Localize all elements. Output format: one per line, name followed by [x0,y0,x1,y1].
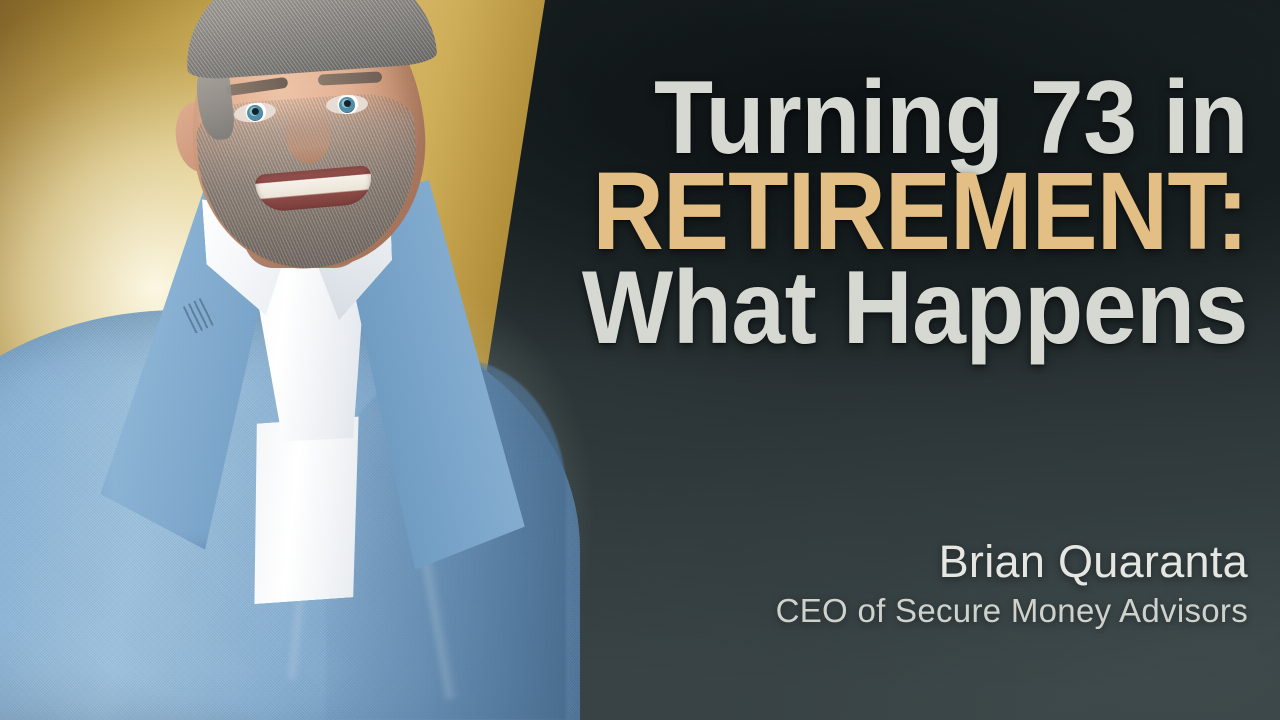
speaker-name: Brian Quaranta [488,538,1248,585]
headline-line-2-highlight: RETIREMENT: [514,165,1248,260]
headline-line-3: What Happens [489,264,1248,353]
headline-block: Turning 73 in RETIREMENT: What Happens [432,74,1248,353]
video-thumbnail: Turning 73 in RETIREMENT: What Happens B… [0,0,1280,720]
speaker-role: CEO of Secure Money Advisors [488,589,1248,634]
byline-block: Brian Quaranta CEO of Secure Money Advis… [488,538,1248,634]
